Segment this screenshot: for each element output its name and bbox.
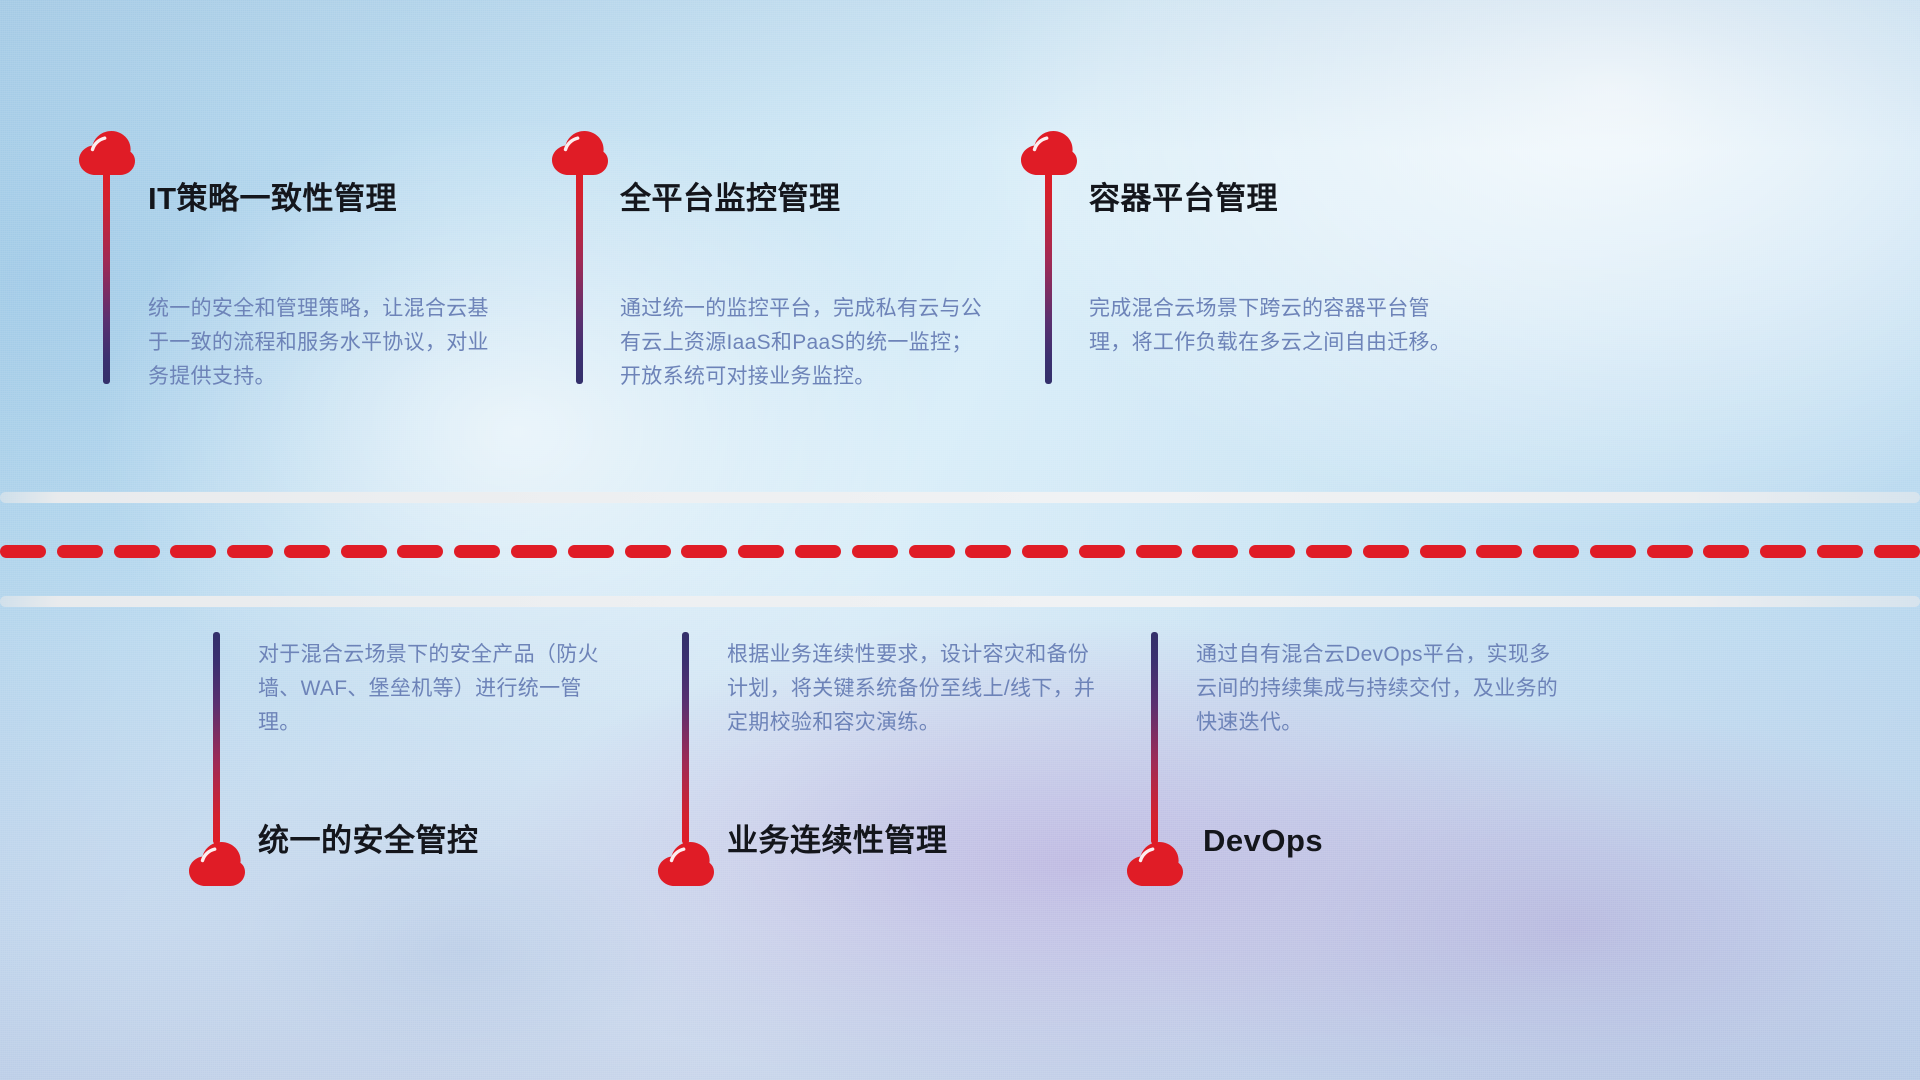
road-dash [965,545,1011,558]
connector-stem [103,172,110,384]
background-noise-texture [0,0,1920,1080]
cloud-icon [657,841,715,887]
road-dashed-centerline [0,545,1920,558]
road-dash [1874,545,1920,558]
connector-stem [213,632,220,844]
road-dash [1306,545,1352,558]
road-dash [681,545,727,558]
card-title: DevOps [1203,822,1323,859]
connector-stem [1045,172,1052,384]
background-glow-top-left [0,0,1920,1080]
road-dash [114,545,160,558]
card-title: 业务连续性管理 [727,822,948,859]
infographic-canvas: IT策略一致性管理 统一的安全和管理策略，让混合云基于一致的流程和服务水平协议，… [0,0,1920,1080]
road-dash [1249,545,1295,558]
card-description: 统一的安全和管理策略，让混合云基于一致的流程和服务水平协议，对业务提供支持。 [148,292,508,394]
background-base-gradient [0,0,1920,1080]
connector-stem [576,172,583,384]
card-title: 容器平台管理 [1089,180,1278,217]
cloud-icon [1020,130,1078,176]
road-dash [1533,545,1579,558]
road-rail-bottom [0,596,1920,607]
card-description: 通过自有混合云DevOps平台，实现多云间的持续集成与持续交付，及业务的快速迭代… [1196,638,1568,740]
cloud-icon [1126,841,1184,887]
road-dash [1703,545,1749,558]
card-description: 通过统一的监控平台，完成私有云与公有云上资源IaaS和PaaS的统一监控；开放系… [620,292,992,394]
cloud-icon [551,130,609,176]
background-bottom-tint [0,0,1920,1080]
road-dash [1079,545,1125,558]
road-dash [284,545,330,558]
road-dash [341,545,387,558]
road-dash [1136,545,1182,558]
road-rail-top [0,492,1920,503]
cloud-icon [78,130,136,176]
road-dash [397,545,443,558]
card-title: IT策略一致性管理 [148,180,397,217]
road-dash [0,545,46,558]
road-dash [1022,545,1068,558]
background-haze-lower-left [0,0,1920,1080]
card-title: 统一的安全管控 [258,822,479,859]
road-dash [909,545,955,558]
road-dash [57,545,103,558]
road-dash [1647,545,1693,558]
card-description: 完成混合云场景下跨云的容器平台管理，将工作负载在多云之间自由迁移。 [1089,292,1461,360]
connector-stem [682,632,689,844]
connector-stem [1151,632,1158,844]
road-dash [1192,545,1238,558]
road-dash [1363,545,1409,558]
cloud-icon [188,841,246,887]
background-vignette [0,0,1920,1080]
road-dash [1590,545,1636,558]
background-glow-top-right [0,0,1920,1080]
road-dash [738,545,784,558]
road-dash [1817,545,1863,558]
road-dash [1476,545,1522,558]
background-glow-mid-left [0,0,1920,1080]
road-dash [511,545,557,558]
road-dash [1420,545,1466,558]
road-dash [170,545,216,558]
background-haze-lower-center [0,0,1920,1080]
road-dash [227,545,273,558]
card-description: 根据业务连续性要求，设计容灾和备份计划，将关键系统备份至线上/线下，并定期校验和… [727,638,1099,740]
road-dash [1760,545,1806,558]
card-title: 全平台监控管理 [620,180,841,217]
road-dash [568,545,614,558]
road-dash [454,545,500,558]
road-dash [625,545,671,558]
road-dash [852,545,898,558]
card-description: 对于混合云场景下的安全产品（防火墙、WAF、堡垒机等）进行统一管理。 [258,638,618,740]
road-dash [795,545,841,558]
background-haze-lower-right [0,0,1920,1080]
